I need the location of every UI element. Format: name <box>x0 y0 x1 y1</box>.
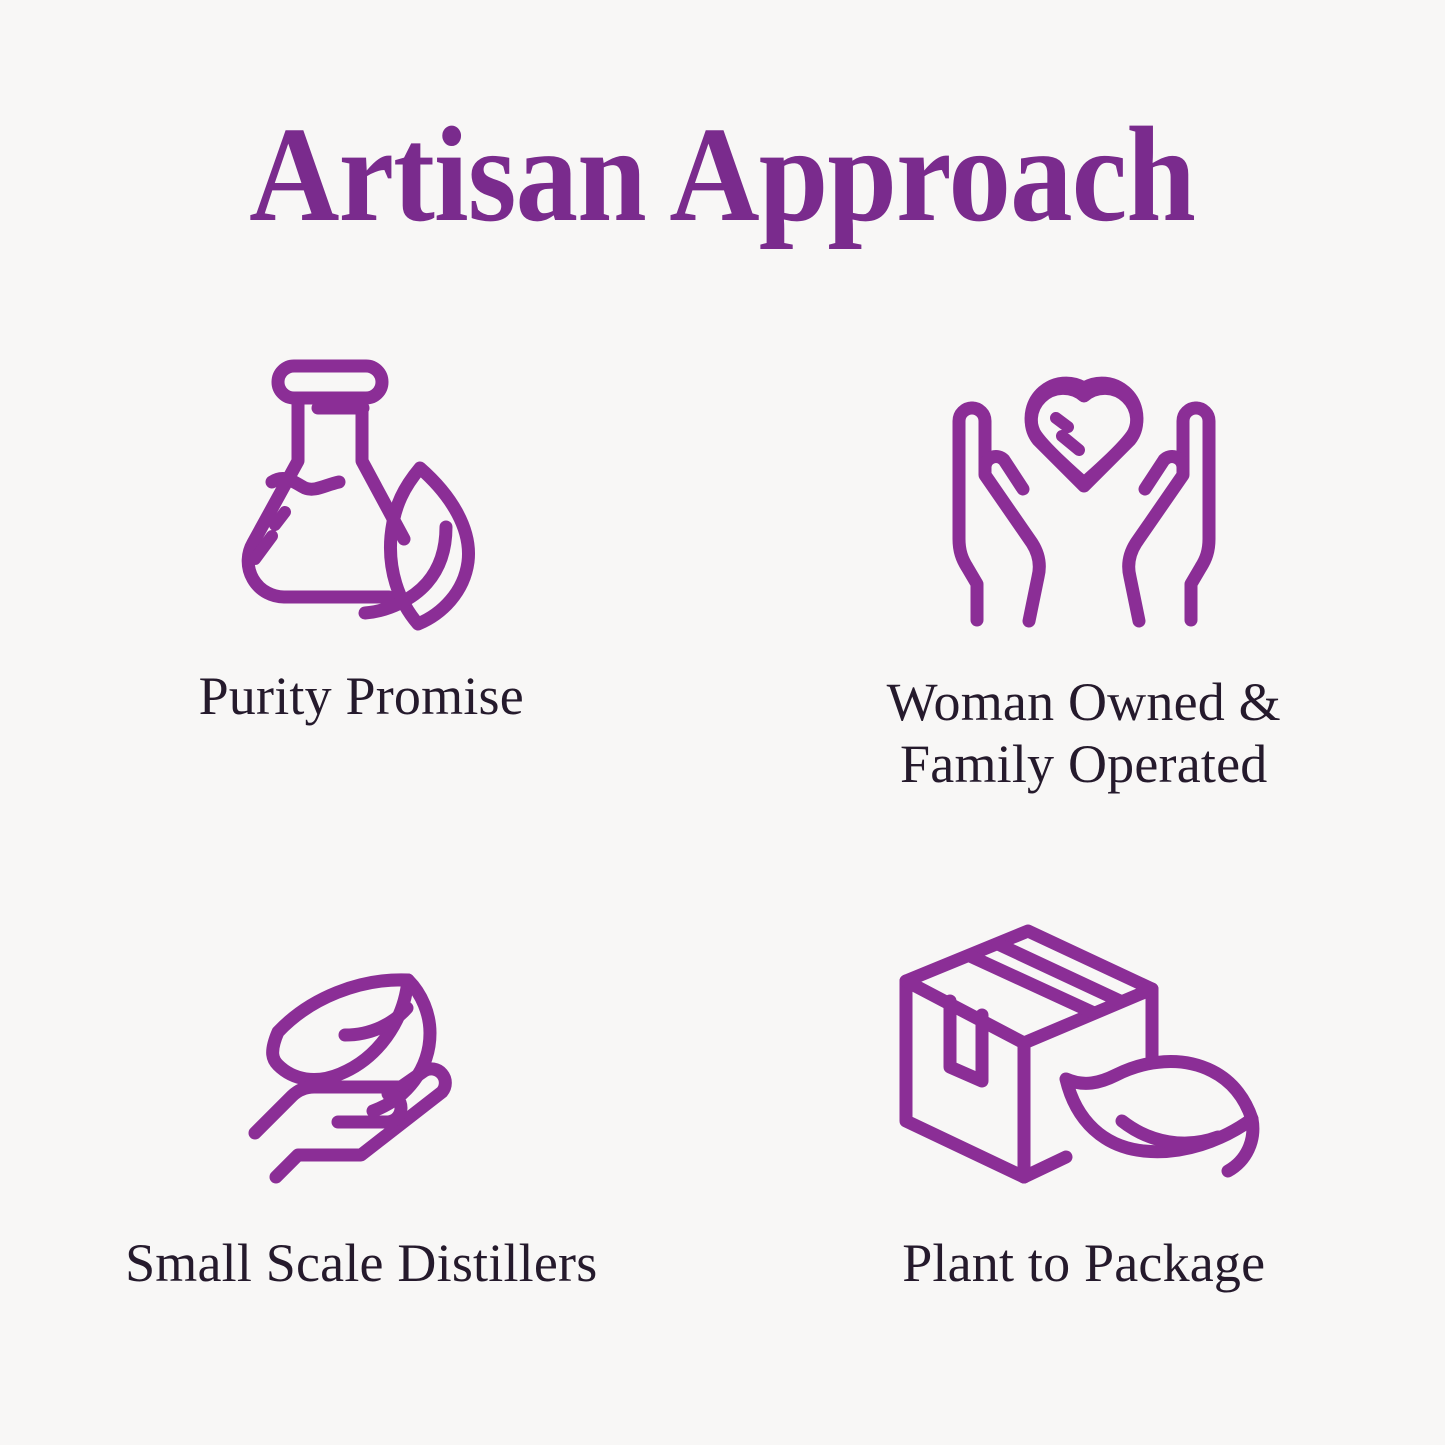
flask-leaf-icon <box>232 334 490 630</box>
feature-icon-slot <box>232 330 490 630</box>
feature-grid: Purity Promise <box>0 330 1445 1360</box>
feature-label: Small Scale Distillers <box>125 1233 597 1295</box>
feature-icon-slot <box>894 845 1274 1179</box>
feature-item-woman-owned: Woman Owned & Family Operated <box>723 330 1445 845</box>
feature-icon-slot <box>241 845 481 1179</box>
page-title: Artisan Approach <box>250 104 1196 247</box>
feature-label: Purity Promise <box>199 666 524 728</box>
box-leaf-icon <box>894 919 1274 1179</box>
feature-item-plant-to-package: Plant to Package <box>723 845 1445 1360</box>
feature-label: Plant to Package <box>902 1233 1265 1295</box>
page-title-container: Artisan Approach <box>0 104 1445 247</box>
feature-label: Woman Owned & Family Operated <box>887 672 1281 795</box>
feature-icon-slot <box>938 330 1230 630</box>
hands-holding-heart-icon <box>938 362 1230 630</box>
feature-item-purity-promise: Purity Promise <box>0 330 723 845</box>
artisan-approach-graphic: Artisan Approach <box>0 0 1445 1445</box>
hand-holding-leaf-icon <box>241 939 481 1179</box>
feature-item-small-scale-distillers: Small Scale Distillers <box>0 845 723 1360</box>
